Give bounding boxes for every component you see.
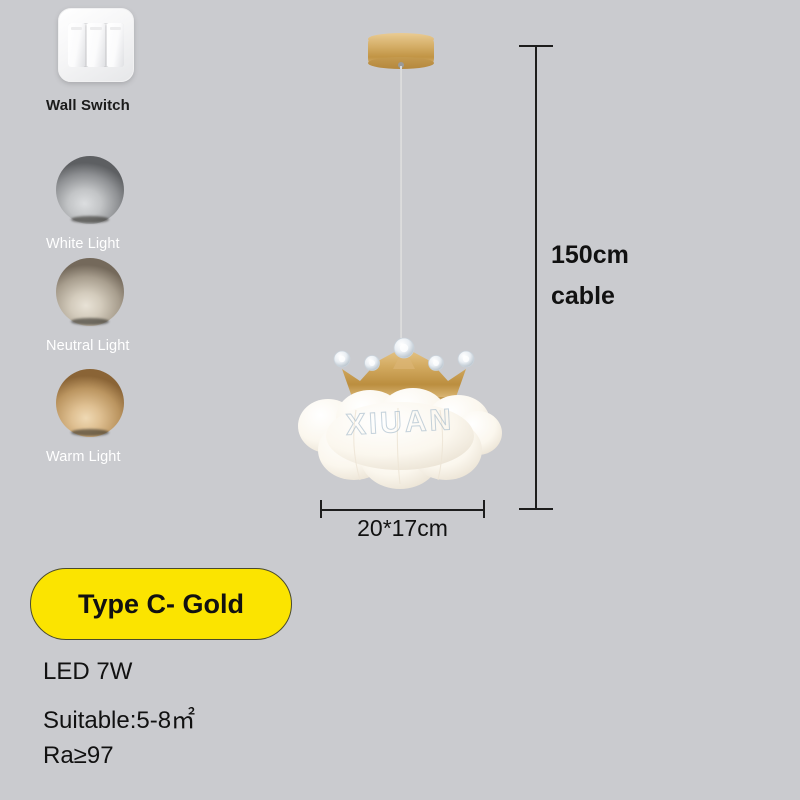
light-option-white[interactable]: White Light <box>46 156 196 252</box>
spec-power: LED 7W <box>43 658 132 686</box>
sphere-white-light-icon <box>56 156 124 224</box>
canopy-screw-icon <box>398 62 404 68</box>
ceiling-canopy-icon <box>368 33 434 45</box>
light-option-warm[interactable]: Warm Light <box>46 369 196 465</box>
gold-crown-icon <box>320 335 488 410</box>
cloud-glass-shade-icon <box>298 388 503 496</box>
spec-cri: Ra≥97 <box>43 742 114 770</box>
wall-switch-icon <box>58 8 134 82</box>
ceiling-canopy-underside <box>368 57 434 69</box>
cable-dimension-unit: cable <box>551 276 701 317</box>
cable-dimension-tick-top <box>519 45 553 47</box>
ceiling-canopy-body <box>368 36 434 66</box>
cable-dimension-value: 150cm <box>551 235 701 276</box>
cable-dimension-line <box>535 45 537 510</box>
wall-switch-block: Wall Switch <box>46 8 206 114</box>
light-option-neutral[interactable]: Neutral Light <box>46 258 196 354</box>
cable-dimension-label: 150cm cable <box>551 235 701 316</box>
wall-switch-rocker[interactable] <box>68 23 85 67</box>
wall-switch-rockers <box>68 23 124 67</box>
suspension-cable-icon <box>400 66 402 341</box>
sphere-neutral-light-icon <box>56 258 124 326</box>
wall-switch-rocker[interactable] <box>107 23 124 67</box>
spec-suitable-area: Suitable:5-8㎡ <box>43 700 195 735</box>
light-option-label: Warm Light <box>46 449 196 465</box>
cable-dimension-tick-bottom <box>519 508 553 510</box>
type-badge-label: Type C- Gold <box>78 589 244 620</box>
brand-watermark: XIUAN <box>329 402 471 443</box>
shade-dimension-line <box>320 509 485 511</box>
wall-switch-rocker[interactable] <box>87 23 104 67</box>
type-badge[interactable]: Type C- Gold <box>30 568 292 640</box>
sphere-warm-light-icon <box>56 369 124 437</box>
light-option-label: White Light <box>46 236 196 252</box>
wall-switch-label: Wall Switch <box>46 97 206 114</box>
shade-dimension-label: 20*17cm <box>300 515 505 542</box>
light-option-label: Neutral Light <box>46 338 196 354</box>
product-spec-canvas: Wall Switch White Light Neutral Light Wa… <box>0 0 800 800</box>
